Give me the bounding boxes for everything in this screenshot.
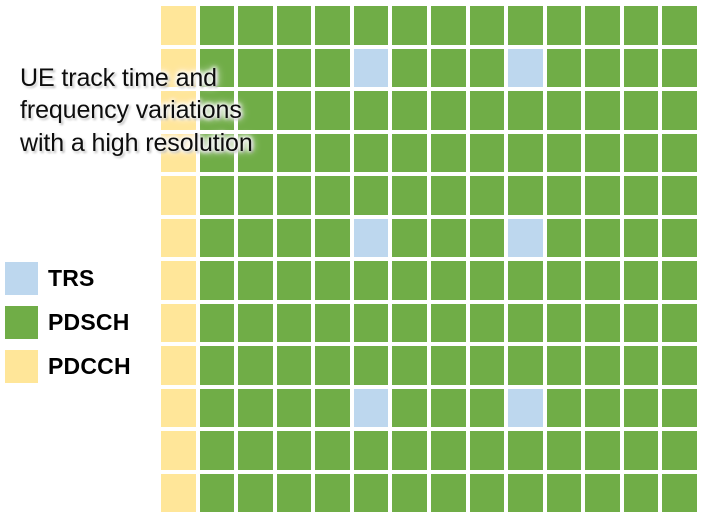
grid-cell-pdsch-r3-c13 bbox=[662, 134, 697, 173]
legend-label-trs: TRS bbox=[48, 265, 95, 292]
grid-cell-pdsch-r9-c11 bbox=[585, 389, 620, 428]
grid-cell-pdsch-r4-c13 bbox=[662, 176, 697, 215]
grid-cell-trs-r1-c5 bbox=[354, 49, 389, 88]
grid-cell-pdsch-r10-c3 bbox=[277, 431, 312, 470]
grid-cell-pdsch-r4-c10 bbox=[547, 176, 582, 215]
grid-cell-pdsch-r6-c8 bbox=[470, 261, 505, 300]
grid-cell-pdsch-r0-c2 bbox=[238, 6, 273, 45]
grid-cell-pdsch-r8-c11 bbox=[585, 346, 620, 385]
grid-cell-pdcch-r8-c0 bbox=[161, 346, 196, 385]
grid-cell-pdsch-r9-c8 bbox=[470, 389, 505, 428]
grid-cell-pdsch-r6-c10 bbox=[547, 261, 582, 300]
grid-cell-pdsch-r3-c4 bbox=[315, 134, 350, 173]
grid-cell-pdsch-r3-c7 bbox=[431, 134, 466, 173]
grid-cell-pdsch-r9-c13 bbox=[662, 389, 697, 428]
grid-cell-pdsch-r11-c2 bbox=[238, 474, 273, 513]
grid-cell-pdsch-r7-c3 bbox=[277, 304, 312, 343]
annotation-line-1: UE track time and bbox=[20, 62, 285, 94]
grid-cell-pdsch-r7-c7 bbox=[431, 304, 466, 343]
grid-cell-pdsch-r8-c6 bbox=[392, 346, 427, 385]
grid-cell-pdsch-r2-c10 bbox=[547, 91, 582, 130]
grid-cell-pdsch-r4-c8 bbox=[470, 176, 505, 215]
grid-cell-pdsch-r5-c12 bbox=[624, 219, 659, 258]
grid-cell-pdsch-r5-c7 bbox=[431, 219, 466, 258]
grid-cell-pdsch-r9-c1 bbox=[200, 389, 235, 428]
legend-item-trs: TRS bbox=[5, 256, 131, 300]
grid-cell-pdsch-r1-c13 bbox=[662, 49, 697, 88]
grid-cell-pdsch-r9-c12 bbox=[624, 389, 659, 428]
grid-cell-pdcch-r11-c0 bbox=[161, 474, 196, 513]
grid-cell-pdsch-r9-c2 bbox=[238, 389, 273, 428]
grid-cell-pdsch-r1-c12 bbox=[624, 49, 659, 88]
resource-grid-diagram: UE track time andfrequency variationswit… bbox=[0, 0, 727, 517]
grid-cell-pdsch-r8-c13 bbox=[662, 346, 697, 385]
grid-cell-pdsch-r2-c5 bbox=[354, 91, 389, 130]
grid-cell-pdsch-r5-c10 bbox=[547, 219, 582, 258]
grid-cell-pdsch-r1-c11 bbox=[585, 49, 620, 88]
grid-cell-pdsch-r8-c1 bbox=[200, 346, 235, 385]
grid-cell-pdsch-r10-c2 bbox=[238, 431, 273, 470]
grid-cell-pdsch-r7-c2 bbox=[238, 304, 273, 343]
grid-cell-pdsch-r9-c10 bbox=[547, 389, 582, 428]
grid-cell-pdsch-r5-c13 bbox=[662, 219, 697, 258]
grid-cell-pdsch-r11-c3 bbox=[277, 474, 312, 513]
legend-item-pdsch: PDSCH bbox=[5, 300, 131, 344]
grid-cell-pdsch-r0-c1 bbox=[200, 6, 235, 45]
grid-cell-pdsch-r8-c7 bbox=[431, 346, 466, 385]
grid-cell-pdsch-r7-c5 bbox=[354, 304, 389, 343]
grid-cell-pdsch-r7-c8 bbox=[470, 304, 505, 343]
grid-cell-pdsch-r2-c7 bbox=[431, 91, 466, 130]
grid-cell-pdsch-r9-c7 bbox=[431, 389, 466, 428]
grid-cell-pdsch-r0-c7 bbox=[431, 6, 466, 45]
grid-cell-pdcch-r9-c0 bbox=[161, 389, 196, 428]
grid-cell-pdsch-r6-c7 bbox=[431, 261, 466, 300]
grid-cell-pdsch-r4-c9 bbox=[508, 176, 543, 215]
grid-cell-pdcch-r10-c0 bbox=[161, 431, 196, 470]
grid-cell-pdsch-r10-c4 bbox=[315, 431, 350, 470]
grid-cell-pdcch-r6-c0 bbox=[161, 261, 196, 300]
grid-cell-pdsch-r4-c11 bbox=[585, 176, 620, 215]
grid-cell-pdsch-r3-c6 bbox=[392, 134, 427, 173]
annotation-line-3: with a high resolution bbox=[20, 127, 285, 159]
grid-cell-pdsch-r8-c4 bbox=[315, 346, 350, 385]
grid-cell-pdsch-r1-c4 bbox=[315, 49, 350, 88]
legend-label-pdsch: PDSCH bbox=[48, 309, 130, 336]
grid-cell-pdsch-r0-c10 bbox=[547, 6, 582, 45]
grid-cell-pdsch-r4-c2 bbox=[238, 176, 273, 215]
grid-cell-pdsch-r8-c5 bbox=[354, 346, 389, 385]
legend-swatch-trs bbox=[5, 262, 38, 295]
grid-cell-pdsch-r6-c6 bbox=[392, 261, 427, 300]
grid-cell-pdsch-r7-c12 bbox=[624, 304, 659, 343]
grid-cell-pdsch-r11-c4 bbox=[315, 474, 350, 513]
grid-cell-pdsch-r3-c9 bbox=[508, 134, 543, 173]
grid-cell-trs-r9-c5 bbox=[354, 389, 389, 428]
grid-cell-pdsch-r5-c6 bbox=[392, 219, 427, 258]
grid-cell-pdsch-r1-c8 bbox=[470, 49, 505, 88]
grid-cell-pdsch-r1-c10 bbox=[547, 49, 582, 88]
grid-cell-pdsch-r0-c9 bbox=[508, 6, 543, 45]
grid-cell-pdsch-r3-c8 bbox=[470, 134, 505, 173]
grid-cell-pdsch-r10-c8 bbox=[470, 431, 505, 470]
grid-cell-pdsch-r3-c10 bbox=[547, 134, 582, 173]
grid-cell-pdsch-r4-c7 bbox=[431, 176, 466, 215]
grid-cell-pdsch-r11-c10 bbox=[547, 474, 582, 513]
annotation-text: UE track time andfrequency variationswit… bbox=[20, 62, 285, 159]
grid-cell-pdsch-r11-c12 bbox=[624, 474, 659, 513]
grid-cell-pdsch-r6-c13 bbox=[662, 261, 697, 300]
grid-cell-pdsch-r1-c7 bbox=[431, 49, 466, 88]
grid-cell-pdsch-r10-c5 bbox=[354, 431, 389, 470]
grid-cell-pdsch-r0-c13 bbox=[662, 6, 697, 45]
legend-item-pdcch: PDCCH bbox=[5, 344, 131, 388]
grid-cell-pdsch-r8-c12 bbox=[624, 346, 659, 385]
grid-cell-pdsch-r0-c3 bbox=[277, 6, 312, 45]
grid-cell-pdsch-r6-c3 bbox=[277, 261, 312, 300]
grid-cell-pdsch-r9-c6 bbox=[392, 389, 427, 428]
grid-cell-pdsch-r4-c12 bbox=[624, 176, 659, 215]
grid-cell-pdsch-r3-c12 bbox=[624, 134, 659, 173]
grid-cell-pdsch-r11-c13 bbox=[662, 474, 697, 513]
grid-cell-pdsch-r10-c13 bbox=[662, 431, 697, 470]
grid-cell-pdsch-r2-c9 bbox=[508, 91, 543, 130]
grid-cell-pdsch-r10-c6 bbox=[392, 431, 427, 470]
grid-cell-pdsch-r7-c9 bbox=[508, 304, 543, 343]
grid-cell-pdsch-r7-c6 bbox=[392, 304, 427, 343]
grid-cell-pdsch-r0-c12 bbox=[624, 6, 659, 45]
grid-cell-pdsch-r5-c4 bbox=[315, 219, 350, 258]
grid-cell-pdsch-r3-c5 bbox=[354, 134, 389, 173]
grid-cell-pdsch-r5-c2 bbox=[238, 219, 273, 258]
grid-cell-pdsch-r2-c4 bbox=[315, 91, 350, 130]
grid-cell-pdsch-r2-c12 bbox=[624, 91, 659, 130]
grid-cell-pdsch-r4-c3 bbox=[277, 176, 312, 215]
grid-cell-pdsch-r6-c11 bbox=[585, 261, 620, 300]
grid-cell-pdcch-r4-c0 bbox=[161, 176, 196, 215]
grid-cell-pdsch-r2-c13 bbox=[662, 91, 697, 130]
grid-cell-pdsch-r5-c1 bbox=[200, 219, 235, 258]
grid-cell-pdsch-r0-c6 bbox=[392, 6, 427, 45]
grid-cell-pdsch-r6-c4 bbox=[315, 261, 350, 300]
grid-cell-trs-r1-c9 bbox=[508, 49, 543, 88]
grid-cell-pdsch-r8-c3 bbox=[277, 346, 312, 385]
grid-cell-pdsch-r1-c6 bbox=[392, 49, 427, 88]
grid-cell-pdsch-r10-c9 bbox=[508, 431, 543, 470]
grid-cell-pdsch-r9-c3 bbox=[277, 389, 312, 428]
grid-cell-pdsch-r0-c11 bbox=[585, 6, 620, 45]
grid-cell-trs-r9-c9 bbox=[508, 389, 543, 428]
grid-cell-pdcch-r5-c0 bbox=[161, 219, 196, 258]
grid-cell-pdsch-r5-c3 bbox=[277, 219, 312, 258]
grid-cell-pdsch-r10-c12 bbox=[624, 431, 659, 470]
grid-cell-pdsch-r9-c4 bbox=[315, 389, 350, 428]
grid-cell-pdsch-r10-c1 bbox=[200, 431, 235, 470]
grid-cell-trs-r5-c9 bbox=[508, 219, 543, 258]
grid-cell-pdsch-r8-c9 bbox=[508, 346, 543, 385]
grid-cell-pdcch-r0-c0 bbox=[161, 6, 196, 45]
grid-cell-pdsch-r11-c9 bbox=[508, 474, 543, 513]
grid-cell-pdsch-r6-c9 bbox=[508, 261, 543, 300]
grid-cell-pdsch-r6-c1 bbox=[200, 261, 235, 300]
grid-cell-pdsch-r11-c8 bbox=[470, 474, 505, 513]
legend: TRSPDSCHPDCCH bbox=[5, 256, 131, 388]
grid-cell-pdsch-r8-c8 bbox=[470, 346, 505, 385]
grid-cell-pdsch-r2-c6 bbox=[392, 91, 427, 130]
grid-cell-pdsch-r7-c1 bbox=[200, 304, 235, 343]
legend-swatch-pdsch bbox=[5, 306, 38, 339]
legend-label-pdcch: PDCCH bbox=[48, 353, 131, 380]
grid-cell-pdsch-r5-c8 bbox=[470, 219, 505, 258]
grid-cell-pdcch-r7-c0 bbox=[161, 304, 196, 343]
grid-cell-pdsch-r7-c11 bbox=[585, 304, 620, 343]
grid-cell-pdsch-r11-c7 bbox=[431, 474, 466, 513]
grid-cell-pdsch-r7-c13 bbox=[662, 304, 697, 343]
grid-cell-pdsch-r4-c6 bbox=[392, 176, 427, 215]
grid-cell-pdsch-r11-c1 bbox=[200, 474, 235, 513]
grid-cell-pdsch-r11-c11 bbox=[585, 474, 620, 513]
annotation-line-2: frequency variations bbox=[20, 94, 285, 126]
grid-cell-pdsch-r6-c12 bbox=[624, 261, 659, 300]
grid-cell-pdsch-r0-c5 bbox=[354, 6, 389, 45]
grid-cell-pdsch-r4-c4 bbox=[315, 176, 350, 215]
grid-cell-pdsch-r6-c5 bbox=[354, 261, 389, 300]
grid-cell-pdsch-r2-c8 bbox=[470, 91, 505, 130]
grid-cell-pdsch-r10-c10 bbox=[547, 431, 582, 470]
grid-cell-pdsch-r5-c11 bbox=[585, 219, 620, 258]
grid-cell-pdsch-r3-c11 bbox=[585, 134, 620, 173]
grid-cell-pdsch-r10-c7 bbox=[431, 431, 466, 470]
grid-cell-pdsch-r10-c11 bbox=[585, 431, 620, 470]
grid-cell-pdsch-r4-c5 bbox=[354, 176, 389, 215]
legend-swatch-pdcch bbox=[5, 350, 38, 383]
grid-cell-pdsch-r8-c2 bbox=[238, 346, 273, 385]
grid-cell-pdsch-r0-c4 bbox=[315, 6, 350, 45]
grid-cell-pdsch-r11-c6 bbox=[392, 474, 427, 513]
grid-cell-pdsch-r2-c11 bbox=[585, 91, 620, 130]
grid-cell-pdsch-r11-c5 bbox=[354, 474, 389, 513]
grid-cell-trs-r5-c5 bbox=[354, 219, 389, 258]
grid-cell-pdsch-r7-c4 bbox=[315, 304, 350, 343]
grid-cell-pdsch-r6-c2 bbox=[238, 261, 273, 300]
grid-cell-pdsch-r0-c8 bbox=[470, 6, 505, 45]
grid-cell-pdsch-r8-c10 bbox=[547, 346, 582, 385]
grid-cell-pdsch-r7-c10 bbox=[547, 304, 582, 343]
grid-cell-pdsch-r4-c1 bbox=[200, 176, 235, 215]
